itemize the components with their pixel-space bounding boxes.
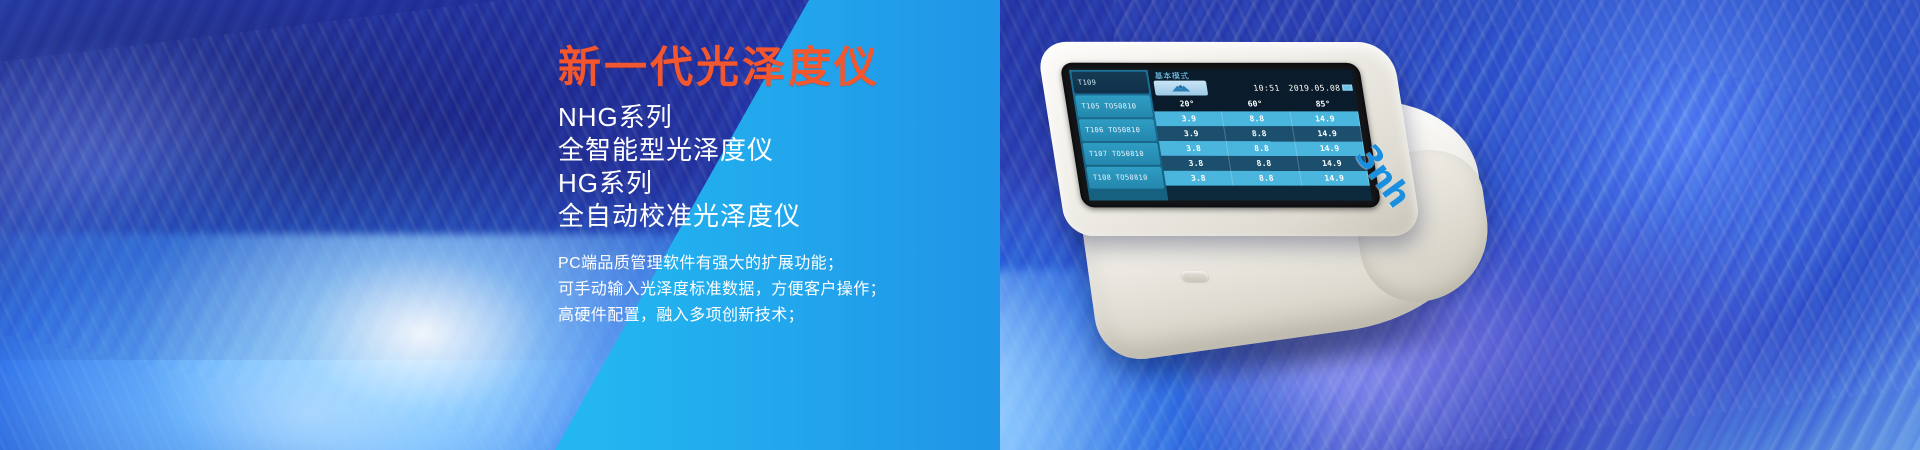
column-header-85: 85° [1288,98,1358,112]
page-title: 新一代光泽度仪 [558,44,1178,92]
table-row[interactable]: 3.8 8.8 14.9 [1164,171,1370,186]
cell-60: 8.8 [1232,171,1302,186]
device-button[interactable] [1181,271,1209,281]
cell-60: 8.8 [1222,111,1292,126]
table-header-row: 20° 60° 85° [1152,97,1358,111]
feature-list: PC端品质管理软件有强大的扩展功能； 可手动输入光泽度标准数据，方便客户操作； … [558,251,1178,329]
feature-line-3: 高硬件配置，融入多项创新技术； [558,303,1178,329]
clock-label: 10:51 [1253,84,1281,93]
subtitle-list: NHG系列 全智能型光泽度仪 HG系列 全自动校准光泽度仪 [558,101,1178,233]
table-row[interactable]: 3.8 8.8 14.9 [1159,141,1365,156]
feature-line-2: 可手动输入光泽度标准数据，方便客户操作； [558,277,1178,303]
cell-85: 14.9 [1290,111,1360,126]
subtitle-line-1: NHG系列 [558,101,1178,134]
date-label: 2019.05.08 [1288,84,1341,93]
cell-60: 8.8 [1229,156,1299,171]
subtitle-line-4: 全自动校准光泽度仪 [558,200,1178,233]
battery-icon [1342,85,1353,91]
table-row[interactable]: 3.9 8.8 14.9 [1154,111,1360,126]
screen-main-area: 基本模式 10:51 2019.05.08 2 [1148,70,1373,201]
subtitle-line-3: HG系列 [558,167,1178,200]
banner-text-block: 新一代光泽度仪 NHG系列 全智能型光泽度仪 HG系列 全自动校准光泽度仪 PC… [558,44,1178,329]
column-header-60: 60° [1220,98,1290,112]
cell-85: 14.9 [1293,126,1363,141]
cell-60: 8.8 [1227,141,1297,156]
table-row[interactable]: 3.9 8.8 14.9 [1157,126,1363,141]
cell-60: 8.8 [1225,126,1295,141]
subtitle-line-2: 全智能型光泽度仪 [558,134,1178,167]
screen-status-bar: 基本模式 10:51 2019.05.08 [1148,70,1356,98]
table-row[interactable]: 3.8 8.8 14.9 [1161,156,1367,171]
product-banner: 新一代光泽度仪 NHG系列 全智能型光泽度仪 HG系列 全自动校准光泽度仪 PC… [0,0,1920,450]
feature-line-1: PC端品质管理软件有强大的扩展功能； [558,251,1178,277]
measurement-table: 20° 60° 85° 3.9 8.8 14.9 3.9 8.8 14 [1152,97,1370,185]
